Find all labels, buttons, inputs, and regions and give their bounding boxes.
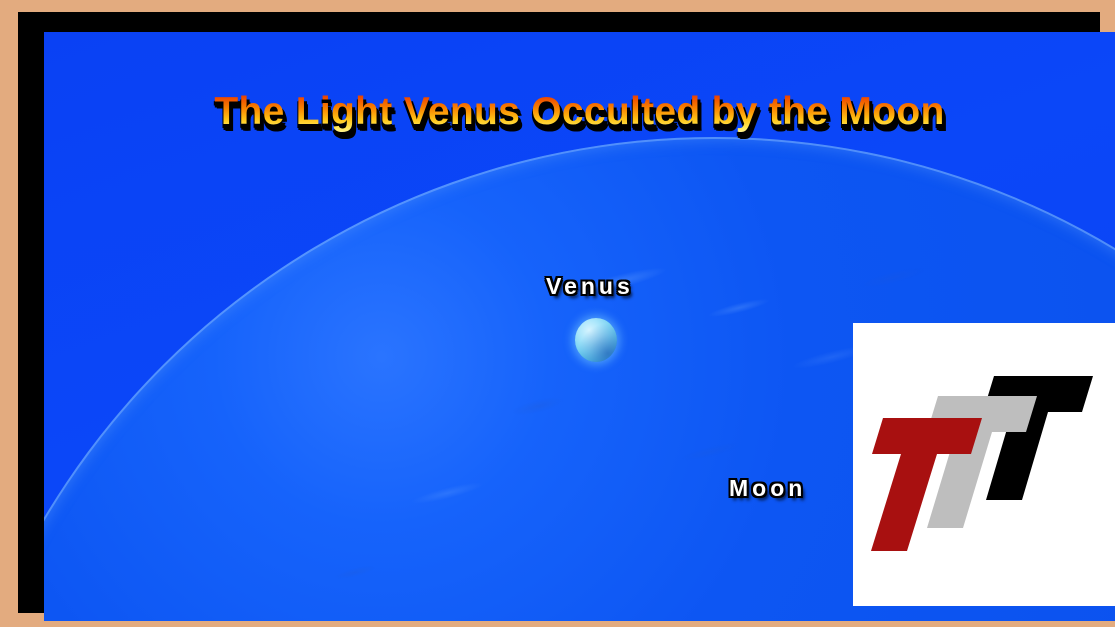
astrophoto: The Light Venus Occulted by the Moon The…	[44, 32, 1115, 621]
logo-svg	[853, 323, 1115, 606]
page-title: The Light Venus Occulted by the Moon	[44, 92, 1115, 131]
page-title-text: The Light Venus Occulted by the Moon	[214, 90, 944, 133]
label-moon: Moon	[729, 477, 806, 500]
venus-disc	[575, 318, 617, 362]
photo-keyline: The Light Venus Occulted by the Moon The…	[18, 12, 1100, 613]
label-venus: Venus	[546, 275, 634, 298]
screenshot-root: The Light Venus Occulted by the Moon The…	[0, 0, 1115, 627]
t-black-icon	[983, 376, 1093, 500]
channel-logo[interactable]	[853, 323, 1115, 606]
